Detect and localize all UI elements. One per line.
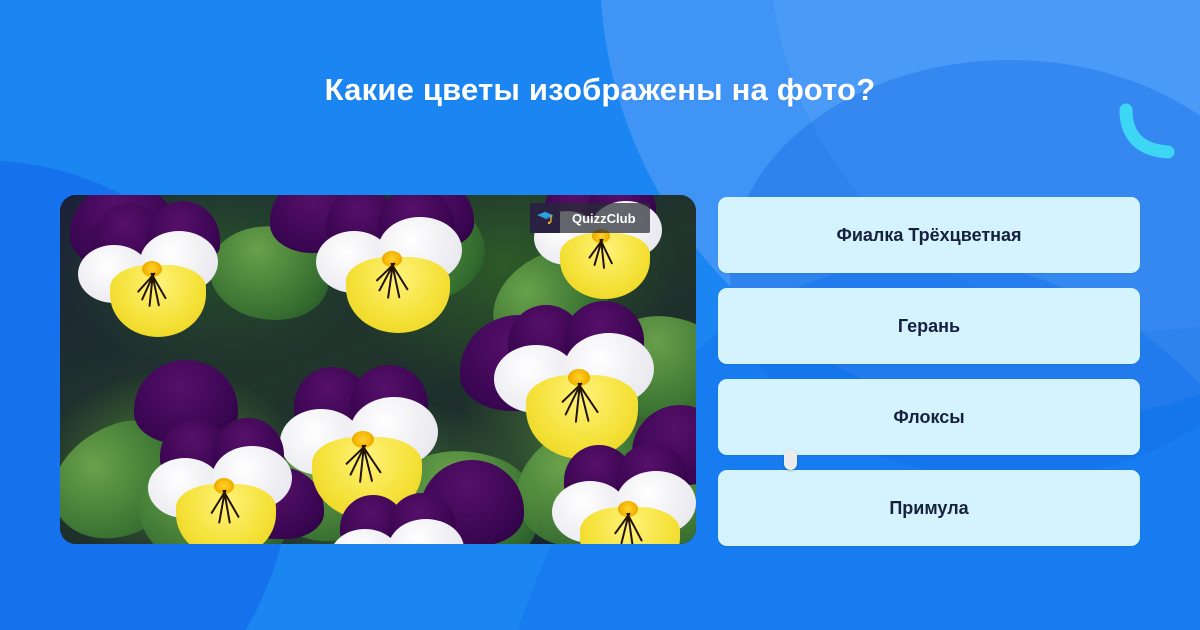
answer-option-4-label: Примула [889,498,968,519]
answer-option-1-label: Фиалка Трёхцветная [836,225,1021,246]
answer-option-1[interactable]: Фиалка Трёхцветная [718,197,1140,273]
quiz-card: Какие цветы изображены на фото? [0,0,1200,630]
question-title: Какие цветы изображены на фото? [0,72,1200,108]
graduation-cap-icon [530,203,560,233]
watermark-badge: QuizzClub [530,203,650,233]
flower-pansy [84,203,264,353]
watermark-brand: QuizzClub [560,211,636,226]
answer-option-3-label: Флоксы [893,407,964,428]
swoosh-icon [1112,100,1182,170]
question-image: QuizzClub [60,195,696,544]
answer-option-2[interactable]: Герань [718,288,1140,364]
answer-option-4[interactable]: Примула [718,470,1140,546]
answer-options-list: Фиалка Трёхцветная Герань Флоксы Примула [718,197,1140,546]
mouse-cursor [784,450,797,470]
answer-option-2-label: Герань [898,316,960,337]
flower-pansy [148,420,328,544]
answer-option-3[interactable]: Флоксы [718,379,1140,455]
flower-pansy [316,195,506,350]
photo-inner [60,195,696,544]
flower-pansy [552,445,696,544]
flower-pansy [328,495,498,544]
